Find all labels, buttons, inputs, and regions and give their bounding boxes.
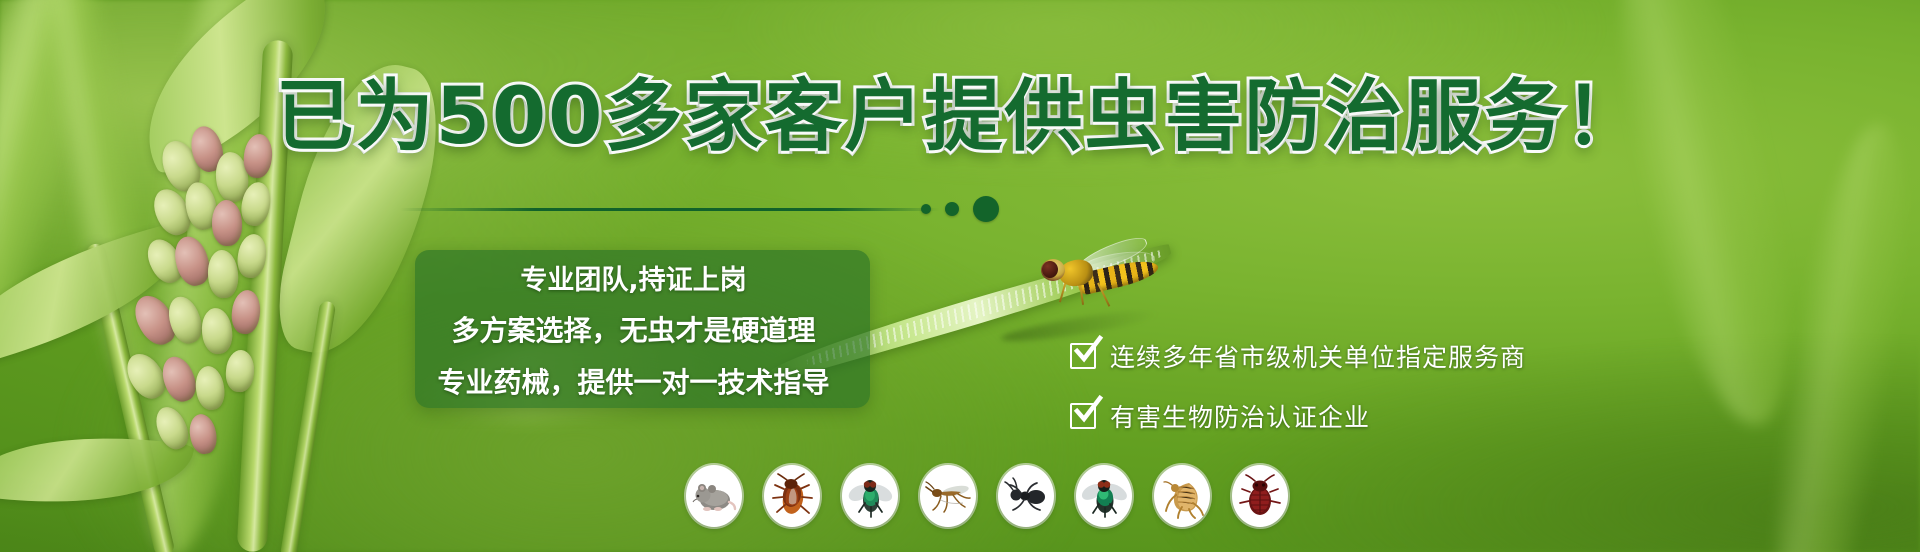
list-item: 有害生物防治认证企业 [1070,398,1526,434]
pest-icon-cockroach[interactable] [764,465,820,527]
info-panel-line-1: 专业团队,持证上岗 [415,258,852,297]
rodent-icon [691,473,737,519]
checkbox-checked-icon [1070,403,1096,429]
fly-icon [847,473,893,519]
info-panel-text: 专业团队,持证上岗 多方案选择，无虫才是硬道理 专业药械，提供一对一技术指导 [415,250,870,408]
info-panel-line-2: 多方案选择，无虫才是硬道理 [415,309,852,349]
pest-icon-blowfly[interactable] [1076,465,1132,527]
info-panel-line-3: 专业药械，提供一对一技术指导 [415,361,852,401]
bedbug-icon [1237,473,1283,519]
dot-large-icon [973,196,999,222]
pest-icon-rodent[interactable] [686,465,742,527]
pest-icon-row [686,465,1288,527]
credential-text: 有害生物防治认证企业 [1110,398,1370,434]
cockroach-icon [769,473,815,519]
credential-list: 连续多年省市级机关单位指定服务商 有害生物防治认证企业 [1070,338,1526,434]
headline-text: 已为500多家客户提供虫害防治服务！ [276,72,1645,162]
blowfly-icon [1081,473,1127,519]
divider-dots [0,196,1920,222]
pest-icon-ant[interactable] [998,465,1054,527]
insect-eye [1042,261,1058,278]
credential-text: 连续多年省市级机关单位指定服务商 [1110,338,1526,374]
flower-bud-cluster [150,130,430,460]
pest-icon-mosquito[interactable] [920,465,976,527]
banner-headline: 已为500多家客户提供虫害防治服务！ [0,78,1920,156]
pest-icon-fly[interactable] [842,465,898,527]
hoverfly-icon [1035,243,1165,311]
dot-medium-icon [945,202,959,216]
checkbox-checked-icon [1070,343,1096,369]
ant-icon [1003,473,1049,519]
flea-icon [1159,473,1205,519]
promo-banner: 已为500多家客户提供虫害防治服务！ 专业团队,持证上岗 多方案选择，无虫才是硬… [0,0,1920,552]
list-item: 连续多年省市级机关单位指定服务商 [1070,338,1526,374]
mosquito-icon [925,473,971,519]
pest-icon-flea[interactable] [1154,465,1210,527]
dot-small-icon [921,204,931,214]
pest-icon-bedbug[interactable] [1232,465,1288,527]
